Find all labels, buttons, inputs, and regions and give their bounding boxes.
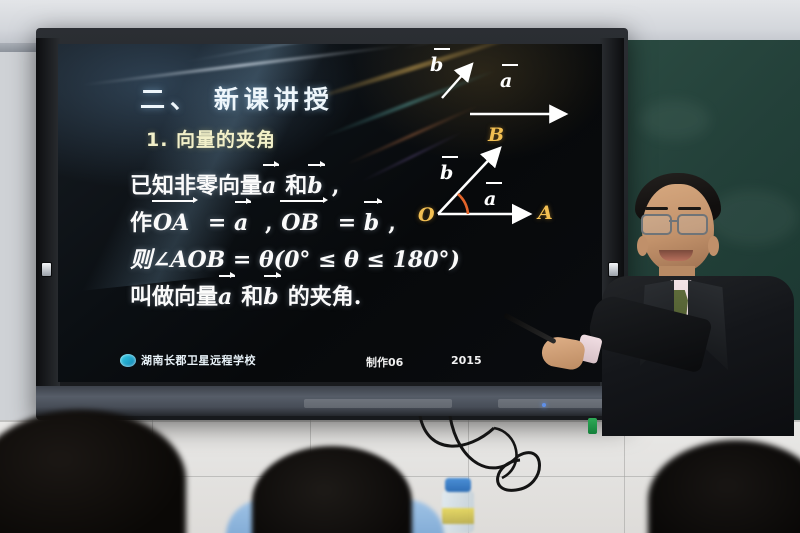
line4-mid: 和 [241,284,263,310]
line4-vector-a: a [218,279,232,316]
slide-body-line-2: 作OA = a , OB = b, [130,205,450,242]
teacher-brow-left [645,207,668,210]
footer-school-name: 湖南长郡卫星远程学校 [141,352,256,368]
line2-vector-b: b [364,205,379,242]
line3-text: 则∠AOB = θ(0° ≤ θ ≤ 180°) [130,247,460,273]
line1-mid: 和 [285,173,307,199]
angle-aob-diagram: O A B b a [418,126,593,236]
line2-vector-a: a [234,205,248,242]
whiteboard-left-bezel [36,38,60,388]
whiteboard-bottom-bezel[interactable] [36,386,628,416]
line2-equals-1: = [200,210,234,236]
point-label-b: B [488,124,504,146]
teacher-ear-left [637,236,648,256]
top-diagram-a-arrow-bar [502,64,518,66]
line2-equals-2: = [330,210,364,236]
top-diagram-label-b: b [430,54,443,76]
school-logo-icon [120,354,136,367]
line2-prefix: 作 [130,210,152,236]
slide-body-line-3: 则∠AOB = θ(0° ≤ θ ≤ 180°) [130,242,450,279]
line4-prefix: 叫做向量 [130,284,218,310]
bottom-diagram-a-arrow-bar [486,182,502,184]
teacher-brow-right [678,207,701,210]
point-label-o: O [418,204,435,226]
line2-segment-ob: OB [280,205,320,242]
green-cable-plug [588,418,597,434]
bottom-diagram-label-a: a [484,188,496,210]
line1-suffix: , [332,173,340,199]
bottom-diagram-b-arrow-bar [442,156,458,158]
line4-vector-b: b [263,279,278,316]
footer-school-logo: 湖南长郡卫星远程学校 [120,352,256,368]
point-label-a: A [538,202,553,224]
slide-body-line-4: 叫做向量a和b的夹角. [130,279,450,316]
top-diagram-label-a: a [500,70,512,92]
bottle-label [442,508,474,524]
glasses-icon [641,214,672,235]
ir-sensor [41,262,52,277]
slide-title: 二、 新课讲授 [140,80,334,116]
power-led-icon [542,403,546,407]
bezel-control-strip[interactable] [498,399,606,408]
teacher-ear-right [708,236,719,256]
projected-slide[interactable]: 二、 新课讲授 1. 向量的夹角 已知非零向量a和b, 作OA = a , OB… [58,44,602,382]
bezel-control-strip[interactable] [304,399,452,408]
vectors-a-and-b-separate: b a [428,52,588,132]
top-diagram-b-arrow-bar [434,48,450,50]
line1-prefix: 已知非零向量 [130,173,262,199]
classroom-scene: 二、 新课讲授 1. 向量的夹角 已知非零向量a和b, 作OA = a , OB… [0,0,800,533]
bottle-cap-blue [445,478,471,492]
line1-vector-a: a [262,168,276,205]
line2-suffix: , [388,210,396,236]
footer-year: 2015 [451,354,482,367]
footer-producer: 制作06 [366,354,403,370]
teacher [596,168,800,433]
glasses-icon [677,214,708,235]
line2-comma: , [257,210,280,236]
line4-suffix: 的夹角. [288,284,362,310]
slide-body: 已知非零向量a和b, 作OA = a , OB = b, 则∠AOB = θ(0… [130,168,450,316]
water-bottle-blue-cap [442,490,474,533]
slide-subtitle: 1. 向量的夹角 [146,125,276,152]
slide-footer: 湖南长郡卫星远程学校 制作06 2015 [58,352,602,374]
line2-segment-oa: OA [152,205,190,242]
bottom-diagram-label-b: b [440,162,453,184]
glasses-bridge [669,220,677,222]
